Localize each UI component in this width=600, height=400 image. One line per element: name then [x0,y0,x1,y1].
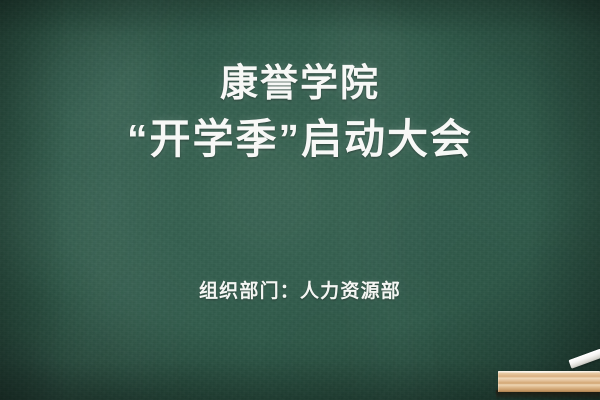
subtitle-organizing-department: 组织部门：人力资源部 [0,276,600,303]
title-block: 康誉学院 “开学季”启动大会 [0,62,600,163]
ledge-top-highlight [498,371,600,373]
chalkboard-slide: 康誉学院 “开学季”启动大会 组织部门：人力资源部 [0,0,600,400]
page-title-line-1: 康誉学院 [0,62,600,107]
slide-content: 康誉学院 “开学季”启动大会 组织部门：人力资源部 [0,0,600,400]
page-title-line-2: “开学季”启动大会 [0,115,600,163]
wooden-chalk-ledge [498,371,600,392]
ledge-wood-face [498,371,600,392]
